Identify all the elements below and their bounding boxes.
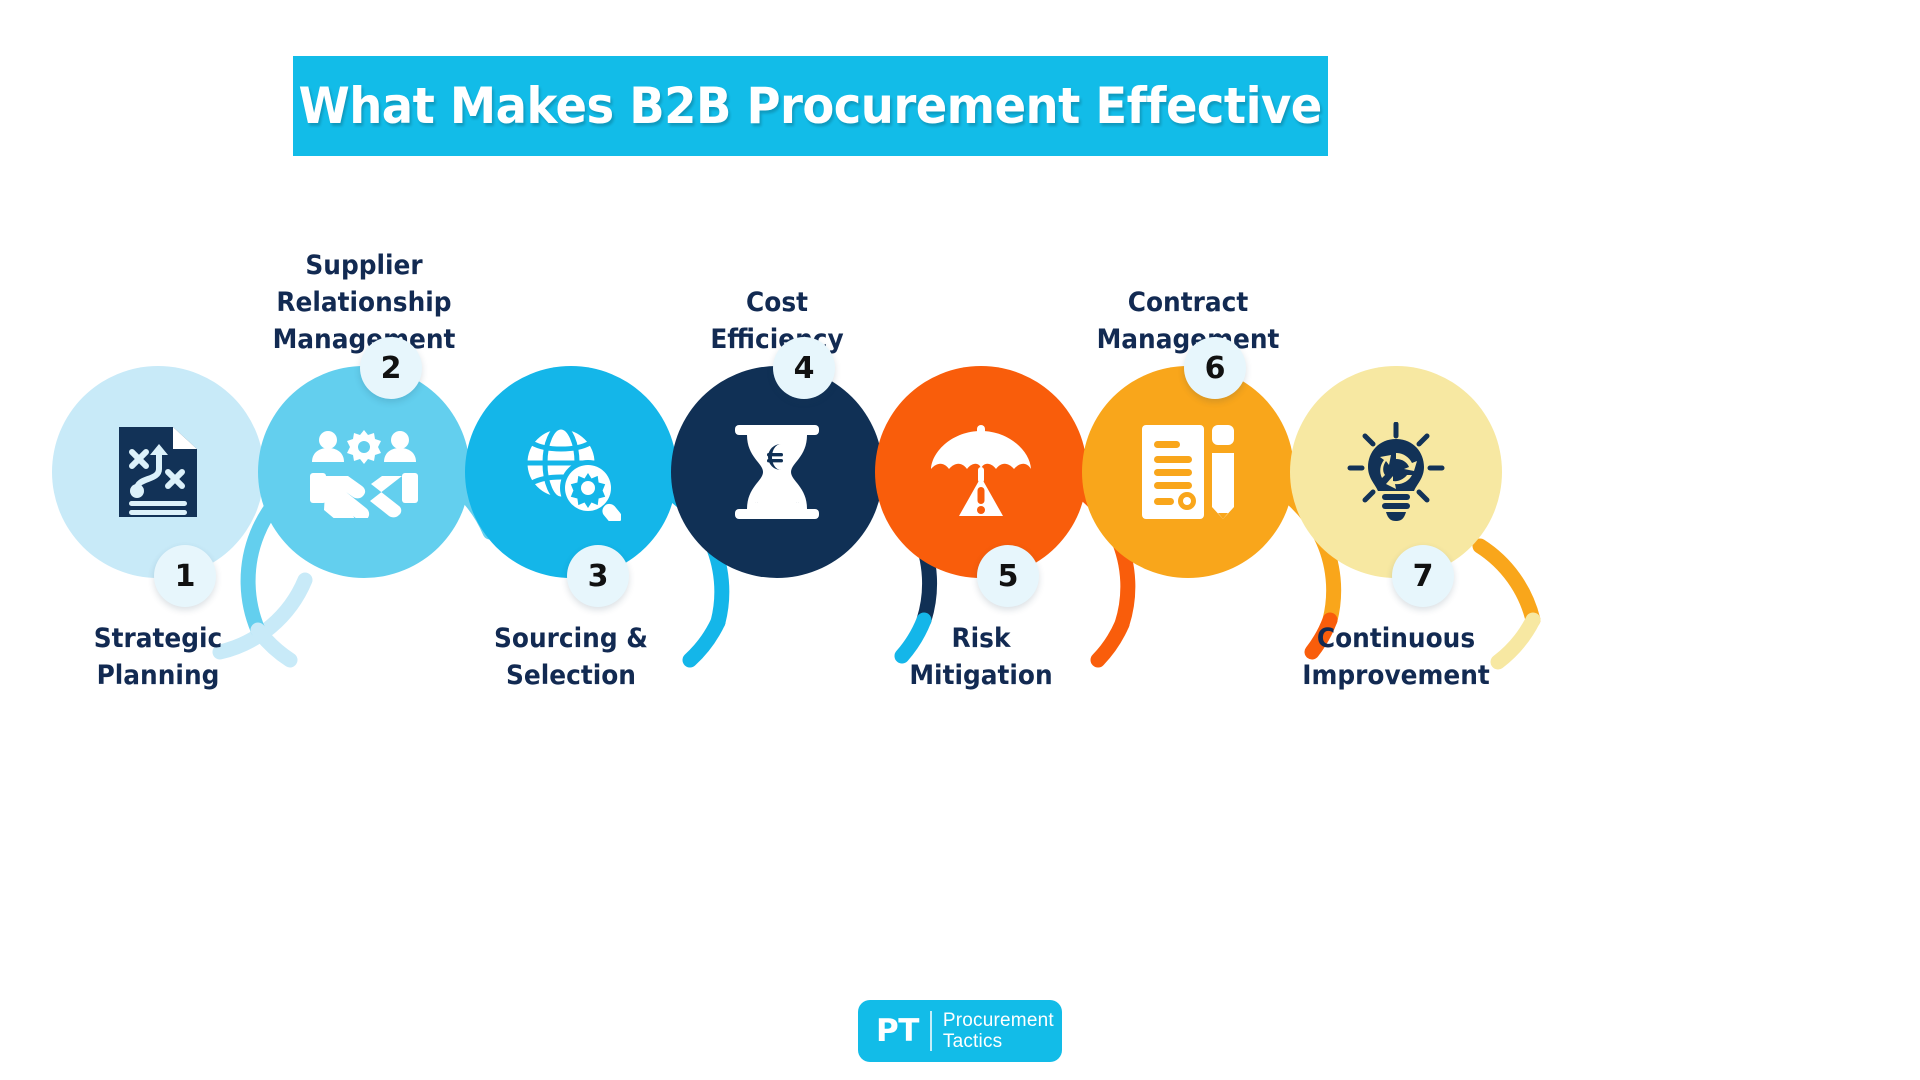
step-7-number-badge: 7 [1392, 545, 1454, 607]
globe-search-gear-icon [521, 423, 621, 521]
step-7-label-line-1: Continuous [1253, 620, 1538, 657]
logo-wordmark: Procurement Tactics [943, 1010, 1054, 1052]
logo-divider [930, 1011, 932, 1051]
step-7-circle [1290, 366, 1502, 578]
umbrella-warning-icon [929, 423, 1033, 521]
step-4-circle [671, 366, 883, 578]
step-3-number-badge: 3 [567, 545, 629, 607]
step-6-number-badge: 6 [1184, 337, 1246, 399]
euro-hourglass-icon [731, 423, 823, 521]
handshake-partners-icon [308, 426, 420, 518]
step-1[interactable]: 1 Strategic Planning [43, 330, 273, 770]
step-7-label-line-2: Improvement [1253, 657, 1538, 694]
page-title: What Makes B2B Procurement Effective [299, 77, 1322, 135]
step-6[interactable]: 6 Contract Management [1073, 330, 1303, 770]
step-2[interactable]: 2 Supplier Relationship Management [249, 330, 479, 770]
logo-monogram: PT [876, 1013, 919, 1049]
lightbulb-recycle-icon [1344, 422, 1448, 522]
step-4-label-line-1: Cost [634, 284, 919, 321]
logo-word-line-2: Tactics [943, 1031, 1054, 1052]
title-banner: What Makes B2B Procurement Effective [293, 56, 1328, 156]
step-1-number-badge: 1 [154, 545, 216, 607]
step-6-circle [1082, 366, 1294, 578]
step-5[interactable]: 5 Risk Mitigation [866, 330, 1096, 770]
step-5-number-badge: 5 [977, 545, 1039, 607]
step-3-circle [465, 366, 677, 578]
step-1-circle [52, 366, 264, 578]
process-flow: 1 Strategic Planning [0, 330, 1920, 770]
step-4[interactable]: 4 Cost Efficiency [662, 330, 892, 770]
step-5-circle [875, 366, 1087, 578]
step-4-number-badge: 4 [773, 337, 835, 399]
step-3[interactable]: 3 Sourcing & Selection [456, 330, 686, 770]
step-2-label-line-1: Supplier [221, 247, 506, 284]
strategy-document-icon [115, 425, 201, 519]
step-7[interactable]: 7 Continuous Improvement [1281, 330, 1511, 770]
step-2-circle [258, 366, 470, 578]
brand-logo[interactable]: PT Procurement Tactics [858, 1000, 1062, 1062]
step-7-label: Continuous Improvement [1253, 620, 1538, 694]
logo-word-line-1: Procurement [943, 1010, 1054, 1031]
step-6-label-line-1: Contract [1045, 284, 1330, 321]
step-2-number-badge: 2 [360, 337, 422, 399]
step-2-label-line-2: Relationship [221, 284, 506, 321]
infographic-canvas: What Makes B2B Procurement Effective [0, 0, 1920, 1080]
contract-pencil-icon [1140, 423, 1236, 521]
